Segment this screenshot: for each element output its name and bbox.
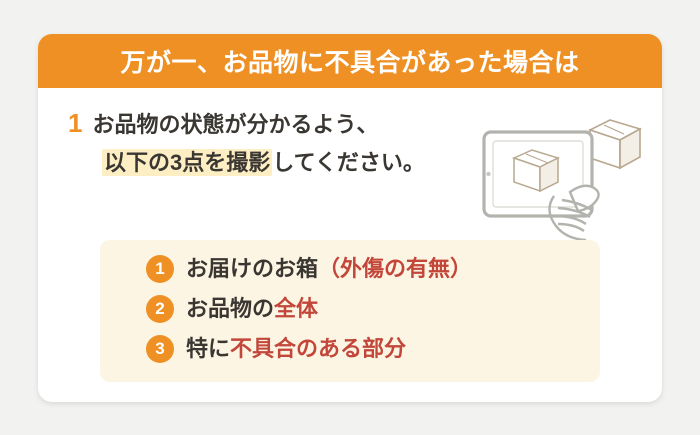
list-item-label: お品物の全体: [186, 298, 318, 320]
step-text-line-2-rest: してください。: [272, 150, 425, 175]
card-header: 万が一、お品物に不具合があった場合は: [38, 34, 662, 88]
list-item-number: 1: [146, 255, 174, 283]
photo-list-panel: 1 お届けのお箱（外傷の有無） 2 お品物の全体 3 特に不具合のある部分: [100, 240, 600, 382]
illustration-svg: [458, 96, 648, 246]
list-item-text-plain: お届けのお箱: [186, 256, 318, 281]
list-item-text-accent: 不具合のある部分: [230, 336, 406, 361]
box-on-screen-icon: [514, 150, 558, 191]
list-item: 1 お届けのお箱（外傷の有無）: [146, 252, 472, 286]
notice-card: 万が一、お品物に不具合があった場合は 1 お品物の状態が分かるよう、 以下の3点…: [38, 34, 662, 402]
screenshot-root: 万が一、お品物に不具合があった場合は 1 お品物の状態が分かるよう、 以下の3点…: [0, 0, 700, 435]
list-item-number: 3: [146, 335, 174, 363]
list-item-text-accent: （外傷の有無）: [318, 256, 472, 281]
cardboard-box-icon: [590, 120, 640, 168]
list-item: 3 特に不具合のある部分: [146, 332, 406, 366]
list-item-label: お届けのお箱（外傷の有無）: [186, 258, 472, 280]
step-number: 1: [68, 110, 82, 136]
page-title: 万が一、お品物に不具合があった場合は: [120, 43, 579, 79]
list-item-label: 特に不具合のある部分: [186, 338, 406, 360]
list-item-text-accent: 全体: [274, 296, 318, 321]
step-text-line-1: お品物の状態が分かるよう、: [92, 111, 378, 139]
card-body: 1 お品物の状態が分かるよう、 以下の3点を撮影してください。: [38, 88, 662, 402]
list-item-text-plain: お品物の: [186, 296, 274, 321]
illustration: [458, 96, 648, 246]
list-item-number: 2: [146, 295, 174, 323]
list-item: 2 お品物の全体: [146, 292, 318, 326]
step-highlight-text: 以下の3点を撮影: [102, 149, 272, 176]
list-item-text-plain: 特に: [186, 336, 230, 361]
